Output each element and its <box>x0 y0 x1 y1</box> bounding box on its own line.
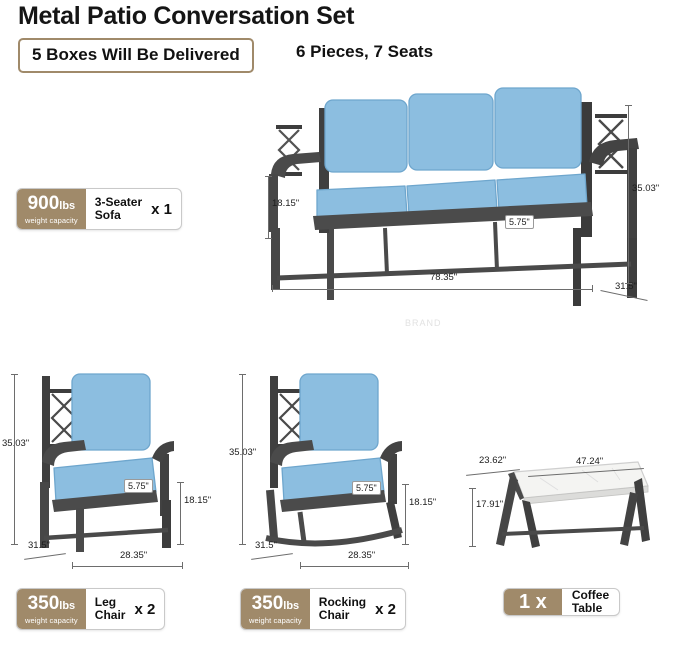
sofa-height-tick-bottom <box>625 283 632 284</box>
table-height-label: 17.91" <box>476 499 503 510</box>
rocking-chair-card-name: Rocking Chair <box>319 596 366 621</box>
sofa-capacity-unit: lbs <box>59 200 75 212</box>
sofa-capacity-card: 900lbs weight capacity 3-Seater Sofa x 1 <box>16 188 182 230</box>
leg-chair-height-tick-top <box>11 374 18 375</box>
rocking-chair-capacity-unit: lbs <box>283 600 299 612</box>
table-width-label: 47.24" <box>576 456 603 467</box>
sofa-capacity-badge: 900lbs weight capacity <box>17 189 86 229</box>
rocking-chair-capacity-value: 350lbs <box>252 594 300 613</box>
table-height-tick-bottom <box>469 546 476 547</box>
pieces-seats-label: 6 Pieces, 7 Seats <box>296 42 433 62</box>
rocking-chair-depth-label: 31.5" <box>255 540 277 551</box>
table-height-rule <box>472 488 473 546</box>
leg-chair-illustration <box>12 362 202 562</box>
sofa-width-label: 78.35" <box>430 272 457 283</box>
sofa-width-tick-left <box>272 285 273 292</box>
leg-chair-width-tick-right <box>182 562 183 569</box>
leg-chair-capacity-unit: lbs <box>59 600 75 612</box>
coffee-table-card-name: Coffee Table <box>572 589 609 615</box>
rocking-chair-width-tick-right <box>408 562 409 569</box>
leg-chair-cushion-thickness-label: 5.75" <box>124 479 153 493</box>
rocking-chair-width-tick-left <box>300 562 301 569</box>
coffee-table-card: 1 x Coffee Table <box>503 588 620 616</box>
leg-chair-width-rule <box>72 566 182 567</box>
rocking-chair-cushion-thickness-label: 5.75" <box>352 481 381 495</box>
sofa-seat-height-rule <box>268 176 269 238</box>
leg-chair-height-rule <box>14 374 15 544</box>
leg-chair-capacity-caption: weight capacity <box>25 616 78 625</box>
rocking-chair-seat-height-label: 18.15" <box>409 497 436 508</box>
leg-chair-card-name: Leg Chair <box>95 596 126 621</box>
rocking-chair-illustration <box>240 362 430 562</box>
rocking-chair-height-tick-bottom <box>239 544 246 545</box>
coffee-table-card-body: Coffee Table <box>562 589 619 615</box>
rocking-chair-card-qty: x 2 <box>375 601 396 618</box>
leg-chair-capacity-badge: 350lbs weight capacity <box>17 589 86 629</box>
rocking-chair-seat-tick-top <box>402 484 409 485</box>
leg-chair-capacity-value: 350lbs <box>28 594 76 613</box>
sofa-card-name-line2: Sofa <box>95 209 142 222</box>
sofa-seat-height-label: 18.15" <box>272 198 299 209</box>
rocking-chair-height-rule <box>242 374 243 544</box>
sofa-seat-height-tick-bottom <box>265 238 272 239</box>
table-depth-label: 23.62" <box>479 455 506 466</box>
leg-chair-seat-tick-bottom <box>177 544 184 545</box>
leg-chair-card-body: Leg Chair x 2 <box>86 589 165 629</box>
sofa-capacity-value: 900lbs <box>28 194 76 213</box>
coffee-table-name-line2: Table <box>572 602 609 615</box>
leg-chair-seat-height-label: 18.15" <box>184 495 211 506</box>
rocking-chair-seat-height-rule <box>405 484 406 544</box>
sofa-cushion-thickness-label: 5.75" <box>505 215 534 229</box>
leg-chair-card-qty: x 2 <box>134 601 155 618</box>
table-height-tick-top <box>469 488 476 489</box>
rocking-chair-height-tick-top <box>239 374 246 375</box>
sofa-width-rule <box>272 289 592 290</box>
sofa-card-name: 3-Seater Sofa <box>95 196 142 221</box>
rocking-chair-width-rule <box>300 566 408 567</box>
leg-chair-height-tick-bottom <box>11 544 18 545</box>
rocking-chair-capacity-caption: weight capacity <box>249 616 302 625</box>
leg-chair-depth-label: 31.5" <box>28 540 50 551</box>
watermark: BRAND <box>405 318 442 328</box>
rocking-chair-card-body: Rocking Chair x 2 <box>310 589 405 629</box>
leg-chair-width-label: 28.35" <box>120 550 147 561</box>
leg-chair-card-name-line2: Chair <box>95 609 126 622</box>
rocking-chair-capacity-badge: 350lbs weight capacity <box>241 589 310 629</box>
sofa-height-rule <box>628 105 629 283</box>
rocking-chair-width-label: 28.35" <box>348 550 375 561</box>
rocking-chair-card-name-line2: Chair <box>319 609 366 622</box>
rocking-chair-seat-tick-bottom <box>402 544 409 545</box>
boxes-delivered-badge: 5 Boxes Will Be Delivered <box>18 38 254 73</box>
leg-chair-capacity-card: 350lbs weight capacity Leg Chair x 2 <box>16 588 165 630</box>
sofa-width-tick-right <box>592 285 593 292</box>
sofa-height-label: 35.03" <box>632 183 659 194</box>
rocking-chair-capacity-card: 350lbs weight capacity Rocking Chair x 2 <box>240 588 406 630</box>
sofa-card-body: 3-Seater Sofa x 1 <box>86 189 181 229</box>
coffee-table-qty: 1 x <box>504 589 562 615</box>
leg-chair-height-label: 35.03" <box>2 438 29 449</box>
leg-chair-seat-tick-top <box>177 482 184 483</box>
sofa-height-tick-top <box>625 105 632 106</box>
sofa-capacity-caption: weight capacity <box>25 216 78 225</box>
page-title: Metal Patio Conversation Set <box>18 2 354 31</box>
leg-chair-width-tick-left <box>72 562 73 569</box>
sofa-card-qty: x 1 <box>151 201 172 218</box>
leg-chair-seat-height-rule <box>180 482 181 544</box>
sofa-seat-height-tick-top <box>265 176 272 177</box>
